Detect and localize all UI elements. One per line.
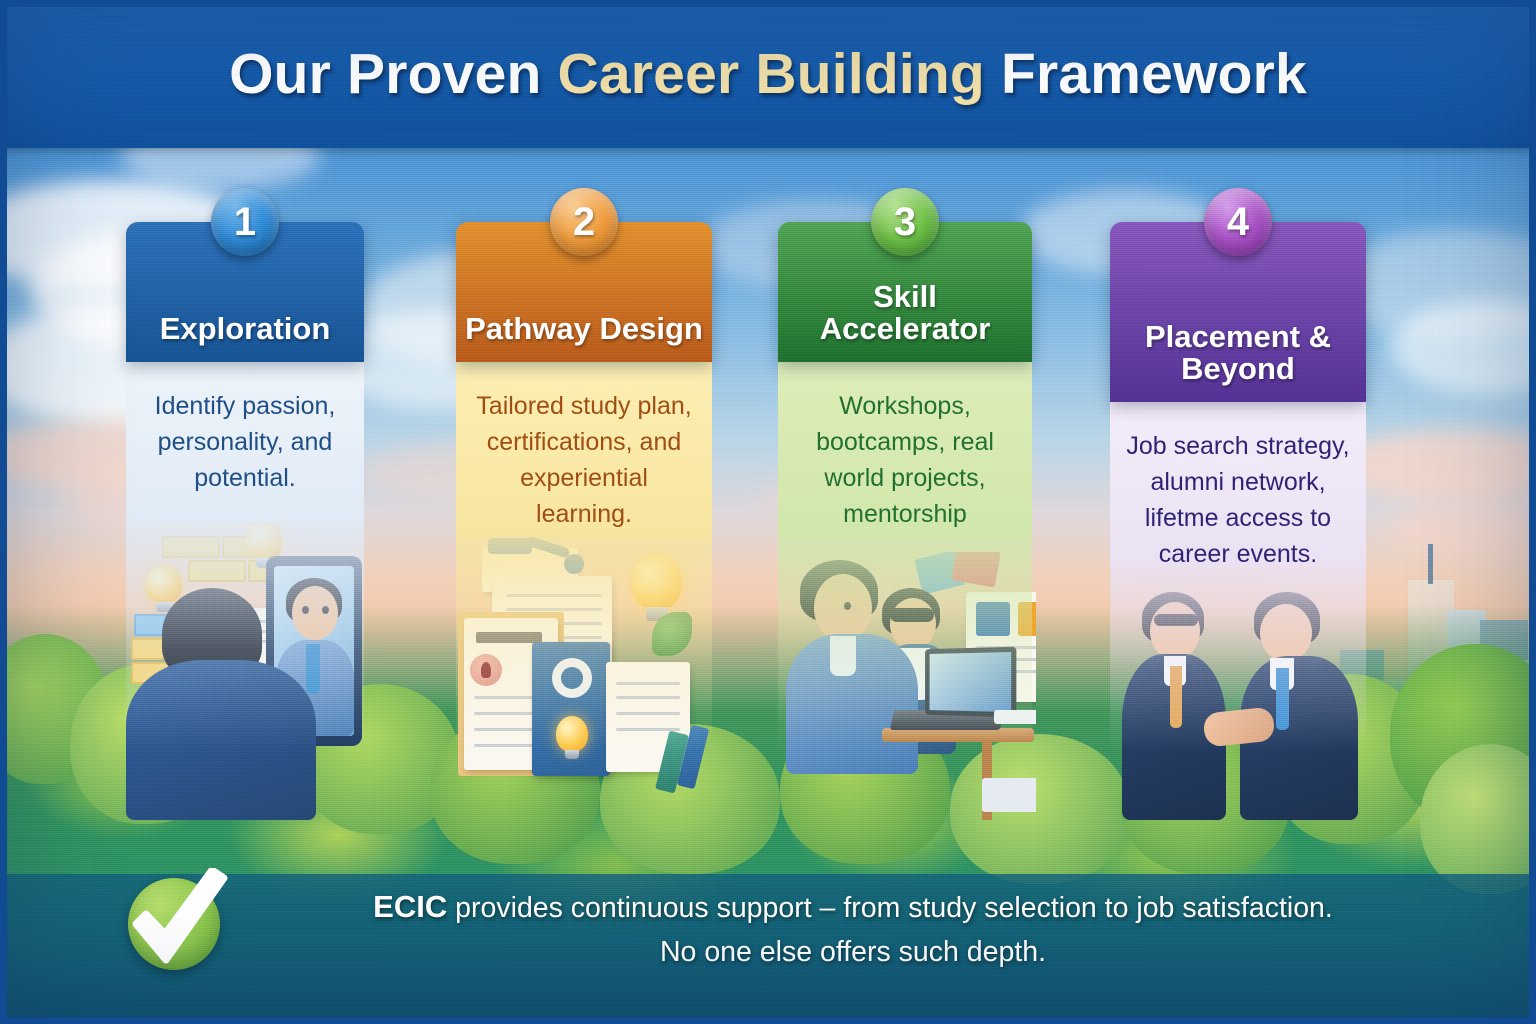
step-number-badge-3: 3 xyxy=(871,188,939,256)
step-card-3-header: 3 Skill Accelerator xyxy=(778,222,1032,362)
step-body-3: Workshops, bootcamps, real world project… xyxy=(778,362,1032,537)
step-title-4: Placement & Beyond xyxy=(1118,321,1358,386)
step-card-2-fade xyxy=(456,537,712,752)
footer-line-1: ECIC provides continuous support – from … xyxy=(228,884,1478,931)
step-number-3: 3 xyxy=(894,200,916,245)
step-card-3-fade xyxy=(778,537,1032,752)
footer-text: ECIC provides continuous support – from … xyxy=(228,884,1478,973)
step-card-4[interactable]: 4 Placement & Beyond Job search strategy… xyxy=(1110,222,1366,752)
step-body-1: Identify passion, personality, and poten… xyxy=(126,362,364,522)
footer-line-1-rest: provides continuous support – from study… xyxy=(447,892,1333,924)
step-card-4-header: 4 Placement & Beyond xyxy=(1110,222,1366,402)
step-card-4-fade xyxy=(1110,567,1366,752)
step-body-4: Job search strategy, alumni network, lif… xyxy=(1110,402,1366,567)
step-body-text-2: Tailored study plan, certifications, and… xyxy=(476,392,691,528)
check-mark-icon xyxy=(120,868,238,980)
step-card-1-fade xyxy=(126,522,364,752)
brand-name: ECIC xyxy=(373,889,447,924)
step-card-3[interactable]: 3 Skill Accelerator Workshops, bootcamps… xyxy=(778,222,1032,752)
step-number-4: 4 xyxy=(1227,200,1249,245)
step-card-1-header: 1 Exploration xyxy=(126,222,364,362)
step-card-2-header: 2 Pathway Design xyxy=(456,222,712,362)
step-body-text-4: Job search strategy, alumni network, lif… xyxy=(1126,432,1349,568)
footer-line-2: No one else offers such depth. xyxy=(228,931,1478,974)
step-body-text-3: Workshops, bootcamps, real world project… xyxy=(816,392,994,528)
step-number-badge-1: 1 xyxy=(211,188,279,256)
step-title-2: Pathway Design xyxy=(465,313,703,346)
step-number-badge-2: 2 xyxy=(550,188,618,256)
step-card-1[interactable]: 1 Exploration Identify passion, personal… xyxy=(126,222,364,752)
step-body-text-1: Identify passion, personality, and poten… xyxy=(155,392,336,492)
step-body-2: Tailored study plan, certifications, and… xyxy=(456,362,712,537)
step-number-1: 1 xyxy=(234,200,256,245)
infographic-canvas: Our Proven Career Building Framework xyxy=(0,0,1536,1024)
step-card-2[interactable]: 2 Pathway Design Tailored study plan, ce… xyxy=(456,222,712,752)
step-number-2: 2 xyxy=(573,200,595,245)
step-number-badge-4: 4 xyxy=(1204,188,1272,256)
step-title-1: Exploration xyxy=(160,313,331,346)
step-title-3: Skill Accelerator xyxy=(786,281,1024,346)
